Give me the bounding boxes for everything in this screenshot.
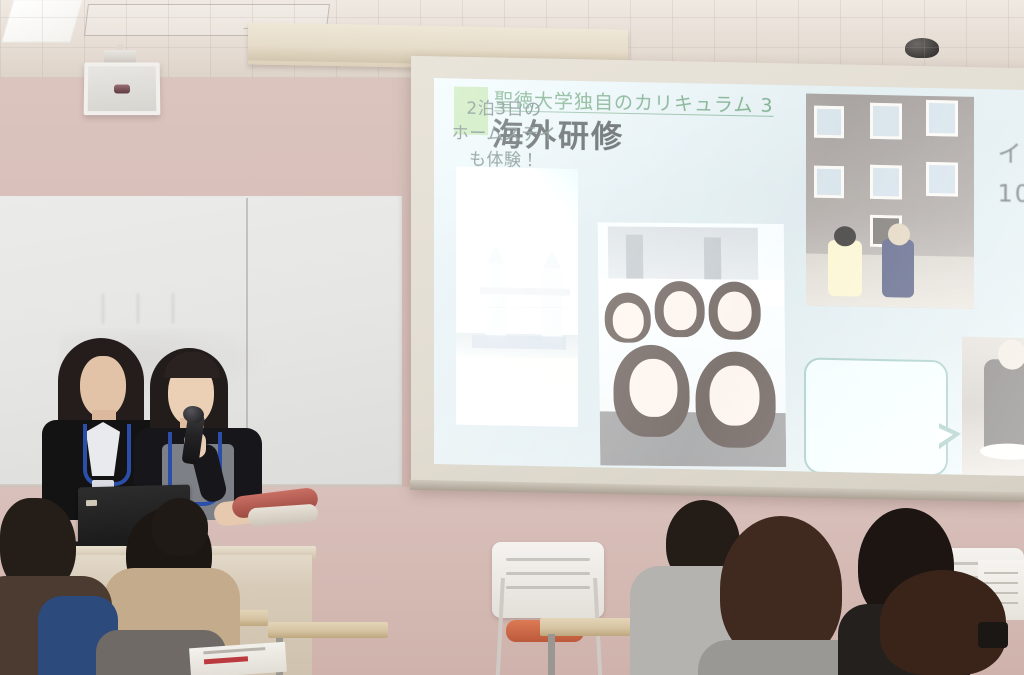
bubble-line-2: ホームステイ: [452, 124, 557, 147]
laptop-badge: [86, 500, 97, 506]
ceiling-speaker-icon: [84, 62, 161, 115]
plate: [980, 443, 1024, 460]
selfie-person-3: [598, 222, 784, 224]
speech-bubble-text: 2泊3日の ホームステイ も体験！: [434, 78, 574, 193]
slide-photo-homestay-cooking: [962, 337, 1024, 476]
ceiling-light-icon: [2, 0, 82, 42]
speaker-grille: [114, 85, 130, 94]
slide-photo-tower-bridge: [456, 166, 578, 426]
slide-side-line-1: イ: [997, 133, 1024, 174]
window: [814, 106, 844, 139]
window: [926, 100, 958, 137]
person-torso: [984, 359, 1024, 450]
desk: [268, 622, 388, 638]
face: [663, 291, 696, 330]
pedestrian-head: [888, 223, 910, 245]
riverside-banner: [472, 335, 566, 350]
slide-side-text: イ 10: [997, 133, 1024, 214]
classroom-presentation-photo: ｜｜｜ 聖徳大学独自のカリキュラム 3 海外研修 イ 10: [0, 0, 1024, 675]
face: [709, 365, 760, 425]
whiteboard-erased-marks: ｜｜｜: [88, 285, 248, 329]
selfie-person-1: [598, 222, 784, 224]
slide-photo-stone-building: [806, 94, 974, 309]
window: [814, 166, 844, 199]
window: [870, 103, 902, 140]
pedestrian-yellow-coat: [828, 240, 862, 297]
window: [870, 165, 902, 200]
hair-clip: [978, 622, 1008, 648]
handout-paper[interactable]: [189, 642, 287, 675]
lanyard: [83, 424, 131, 486]
speaker-mount: [104, 50, 136, 63]
desk-leg: [548, 634, 555, 675]
pedestrian-blue-top: [882, 239, 914, 298]
riverbank: [456, 356, 578, 426]
projected-slide: 聖徳大学独自のカリキュラム 3 海外研修 イ 10: [434, 78, 1024, 476]
chair-back: [492, 542, 604, 618]
bubble-line-1: 2泊3日の: [466, 99, 541, 122]
bridge-cables: [456, 296, 578, 324]
speech-bubble-tail: [939, 423, 961, 449]
ceiling-dome-camera-icon: [905, 38, 939, 58]
selfie-person-2: [598, 222, 784, 224]
slide-photo-group-selfie: [598, 222, 787, 467]
window: [926, 162, 958, 197]
person-head: [998, 339, 1024, 370]
selfie-person-5: [598, 222, 784, 224]
pedestrian-head: [834, 226, 856, 246]
head-back: [152, 498, 208, 556]
slide-speech-bubble: [804, 357, 948, 475]
face: [629, 359, 678, 417]
face: [717, 291, 751, 331]
bubble-line-3: も体験！: [469, 149, 539, 172]
face: [613, 302, 644, 338]
slide-side-line-2: 10: [997, 173, 1024, 214]
selfie-person-4: [598, 222, 784, 224]
face: [80, 356, 126, 418]
